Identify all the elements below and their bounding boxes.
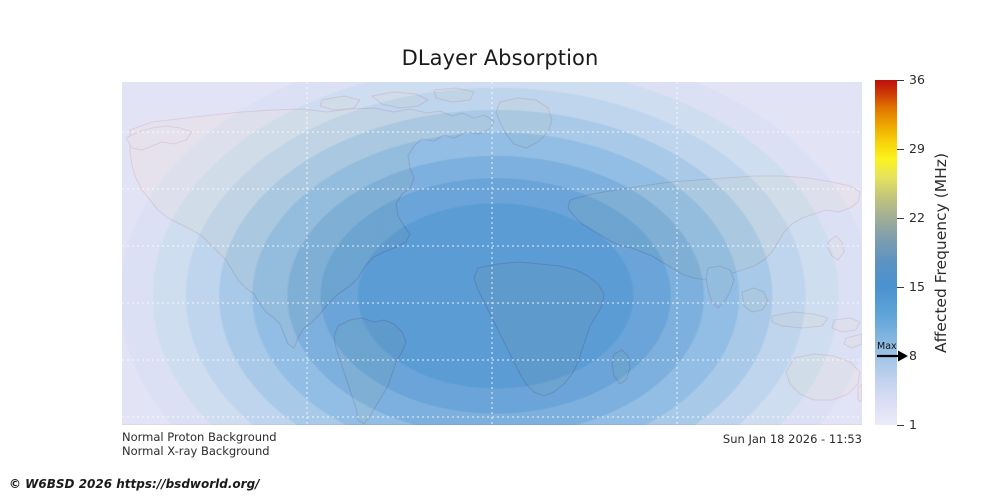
tick-dash (897, 80, 904, 81)
colorbar-tick-label: 29 (909, 143, 925, 156)
map-panel[interactable] (122, 82, 862, 425)
colorbar-tick-label: 15 (909, 281, 925, 294)
note-xray-background: Normal X-ray Background (122, 444, 270, 458)
tick-dash (897, 425, 904, 426)
colorbar-gradient (875, 80, 897, 425)
copyright-notice: © W6BSD 2026 https://bsdworld.org/ (9, 477, 260, 491)
colorbar-tick-label: 8 (909, 350, 917, 363)
colorbar-axis-label-text: Affected Frequency (MHz) (932, 153, 950, 353)
colorbar-tick-label: 36 (909, 74, 925, 87)
page-title: DLayer Absorption (0, 46, 1000, 70)
tick-dash (897, 356, 904, 357)
world-map (122, 82, 862, 425)
tick-dash (897, 287, 904, 288)
colorbar-tick-label: 1 (909, 419, 917, 432)
timestamp: Sun Jan 18 2026 - 11:53 (723, 432, 862, 446)
note-proton-background: Normal Proton Background (122, 430, 277, 444)
colorbar[interactable]: 1815222936 (875, 80, 897, 425)
colorbar-tick-label: 22 (909, 212, 925, 225)
tick-dash (897, 218, 904, 219)
colorbar-axis-label: Affected Frequency (MHz) (930, 80, 952, 425)
tick-dash (897, 149, 904, 150)
